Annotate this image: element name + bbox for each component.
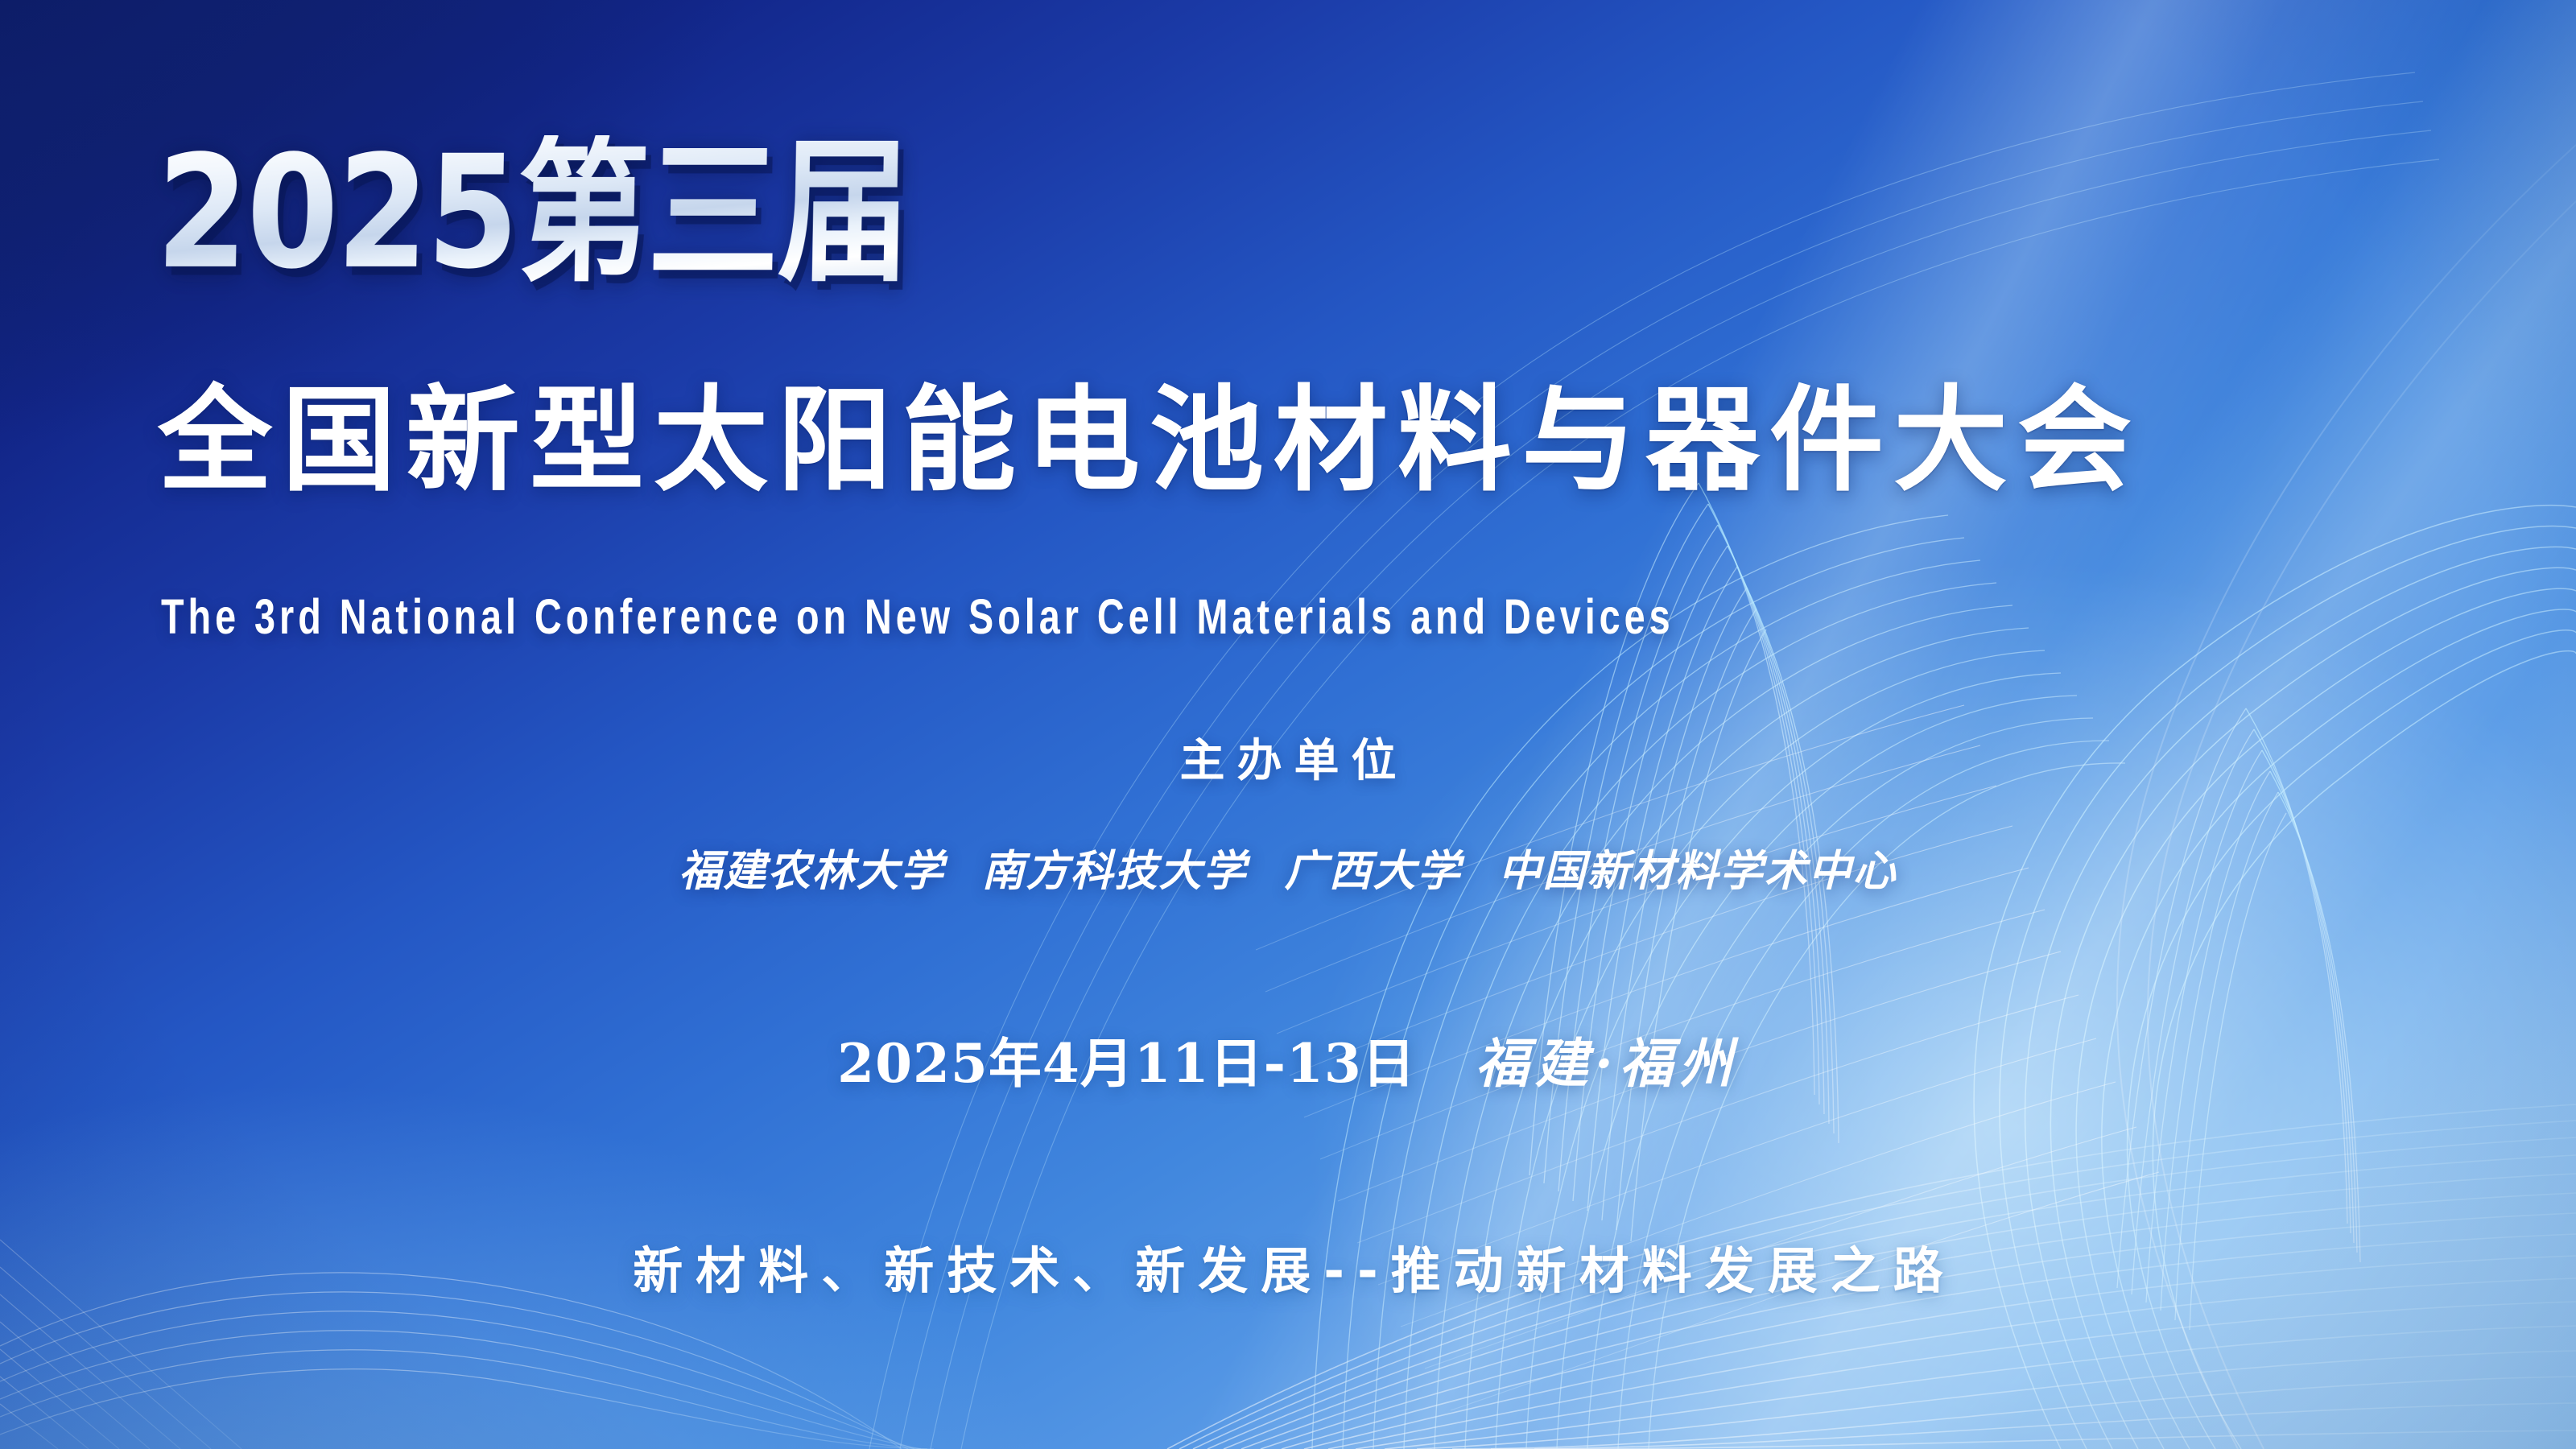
host-section-label: 主办单位 [0,724,2576,790]
host-org-3: 广西大学 [1285,846,1462,896]
english-subtitle: The 3rd National Conference on New Solar… [161,588,1674,646]
event-date-location: 2025年4月11日-13日福建·福州 [0,1021,2576,1098]
year-edition-title: 2025第三届 [155,135,910,291]
page-title: 全国新型太阳能电池材料与器件大会 [158,377,2141,505]
conference-poster: 2025第三届 全国新型太阳能电池材料与器件大会 The 3rd Nationa… [0,0,2576,1449]
host-org-2: 南方科技大学 [982,846,1248,896]
event-slogan: 新材料、新技术、新发展--推动新材料发展之路 [0,1230,2576,1302]
host-org-1: 福建农林大学 [679,846,945,896]
event-date: 2025年4月11日-13日 [837,1032,1416,1095]
event-location: 福建·福州 [1476,1032,1739,1095]
poster-content: 2025第三届 全国新型太阳能电池材料与器件大会 The 3rd Nationa… [0,0,2576,1449]
host-org-4: 中国新材料学术中心 [1499,846,1897,896]
host-organizations: 福建农林大学南方科技大学广西大学中国新材料学术中心 [0,837,2576,898]
